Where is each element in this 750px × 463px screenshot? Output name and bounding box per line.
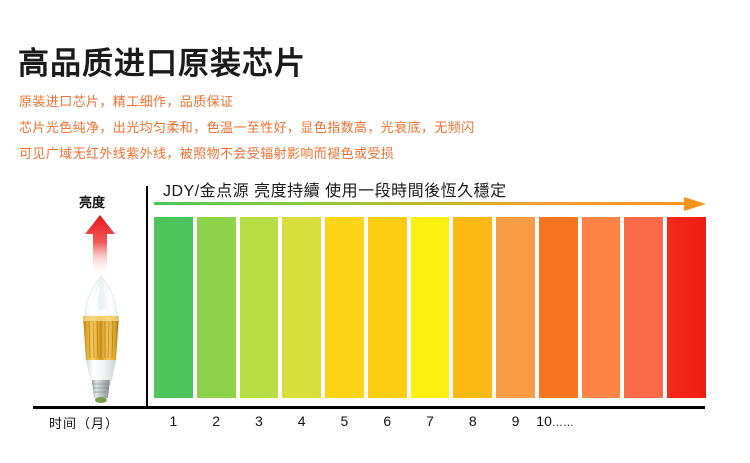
bar-13 (667, 217, 706, 398)
trend-arrow-icon (154, 197, 706, 211)
x-axis-line (33, 406, 705, 409)
y-axis-label: 亮度 (79, 192, 105, 211)
feature-bullet-3: 可见广域无红外线紫外线，被照物不会受辐射影响而褪色或受损 (19, 143, 394, 162)
up-arrow-icon (84, 214, 116, 276)
bar-3 (240, 217, 279, 398)
feature-bullet-1: 原装进口芯片，精工细作，品质保证 (19, 91, 233, 110)
brightness-chart: JDY/金点源 亮度持續 使用一段時間後恆久穩定 亮度 (0, 170, 750, 463)
bar-6 (368, 217, 407, 398)
bar-10 (539, 217, 578, 398)
bar-series (154, 217, 706, 398)
bar-12 (624, 217, 663, 398)
bar-11 (582, 217, 621, 398)
bar-5 (325, 217, 364, 398)
bar-1 (154, 217, 193, 398)
bar-8 (453, 217, 492, 398)
page-title: 高品质进口原装芯片 (18, 38, 306, 83)
x-tick-10: 10…… (536, 413, 596, 429)
bar-7 (411, 217, 450, 398)
led-candle-bulb-icon (70, 274, 132, 404)
bar-9 (496, 217, 535, 398)
feature-bullet-2: 芯片光色纯净，出光均匀柔和，色温一至性好，显色指数高，光衰底，无频闪 (19, 117, 475, 136)
y-axis-line (146, 186, 148, 408)
bar-4 (282, 217, 321, 398)
bar-2 (197, 217, 236, 398)
x-axis-label: 时间（月） (49, 413, 119, 432)
